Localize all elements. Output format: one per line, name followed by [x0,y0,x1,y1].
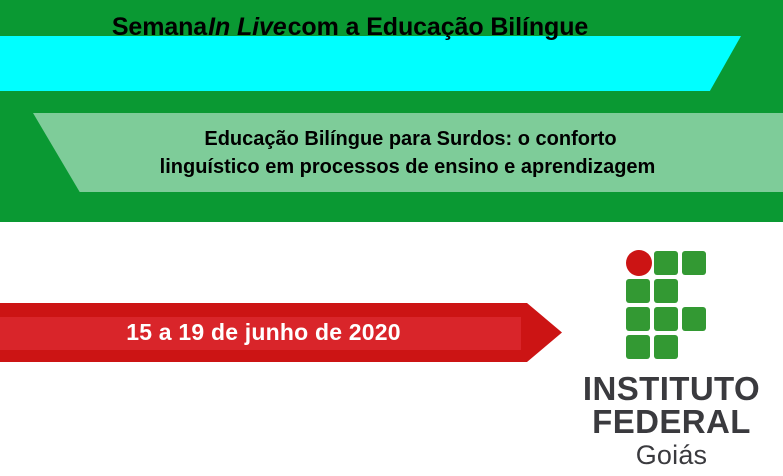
logo-cell-r2c2 [682,307,706,331]
logo-wordmark-line-2: FEDERAL [560,405,783,438]
event-subtitle: Educação Bilíngue para Surdos: o confort… [30,113,783,192]
logo-cell-r2c0 [626,307,650,331]
logo-wordmark-line-1: INSTITUTO [560,372,783,405]
logo-cell-r3c0 [626,335,650,359]
logo-cell-r0c2 [682,251,706,275]
event-title-part2: com a Educação Bilíngue [288,13,589,42]
event-subtitle-line-2: linguístico em processos de ensino e apr… [158,153,656,181]
logo-red-dot [626,250,652,276]
logo-cell-r0c1 [654,251,678,275]
logo-wordmark: INSTITUTO FEDERAL Goiás [560,372,783,472]
event-title-emphasis: In Live [207,13,288,42]
event-title-part1: Semana [112,13,207,42]
logo-cell-r1c1 [654,279,678,303]
event-subtitle-line-1: Educação Bilíngue para Surdos: o confort… [196,125,616,153]
instituto-federal-logo-icon [626,250,734,360]
event-date-label: 15 a 19 de junho de 2020 [0,303,527,362]
logo-wordmark-line-3: Goiás [560,439,783,472]
logo-cell-r2c1 [654,307,678,331]
event-poster: Semana In Live com a Educação Bilíngue E… [0,0,783,476]
logo-cell-r3c1 [654,335,678,359]
logo-cell-r1c0 [626,279,650,303]
event-title: Semana In Live com a Educação Bilíngue [0,0,700,55]
